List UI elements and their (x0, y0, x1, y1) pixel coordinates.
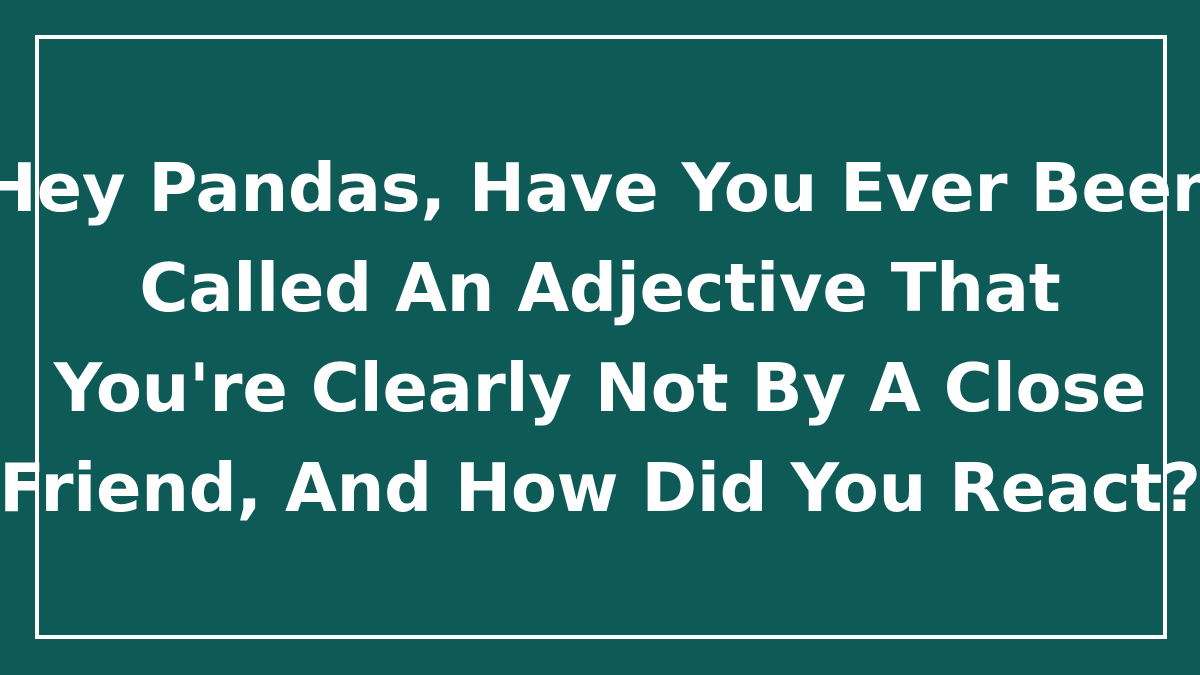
headline-line-4: Friend, And How Did You React? (0, 438, 1200, 538)
social-post-card: Hey Pandas, Have You Ever Been Called An… (0, 0, 1200, 675)
headline-line-3: You're Clearly Not By A Close (54, 338, 1147, 438)
headline-line-2: Called An Adjective That (139, 238, 1060, 338)
headline-line-1: Hey Pandas, Have You Ever Been (0, 138, 1200, 238)
headline-block: Hey Pandas, Have You Ever Been Called An… (0, 0, 1200, 675)
